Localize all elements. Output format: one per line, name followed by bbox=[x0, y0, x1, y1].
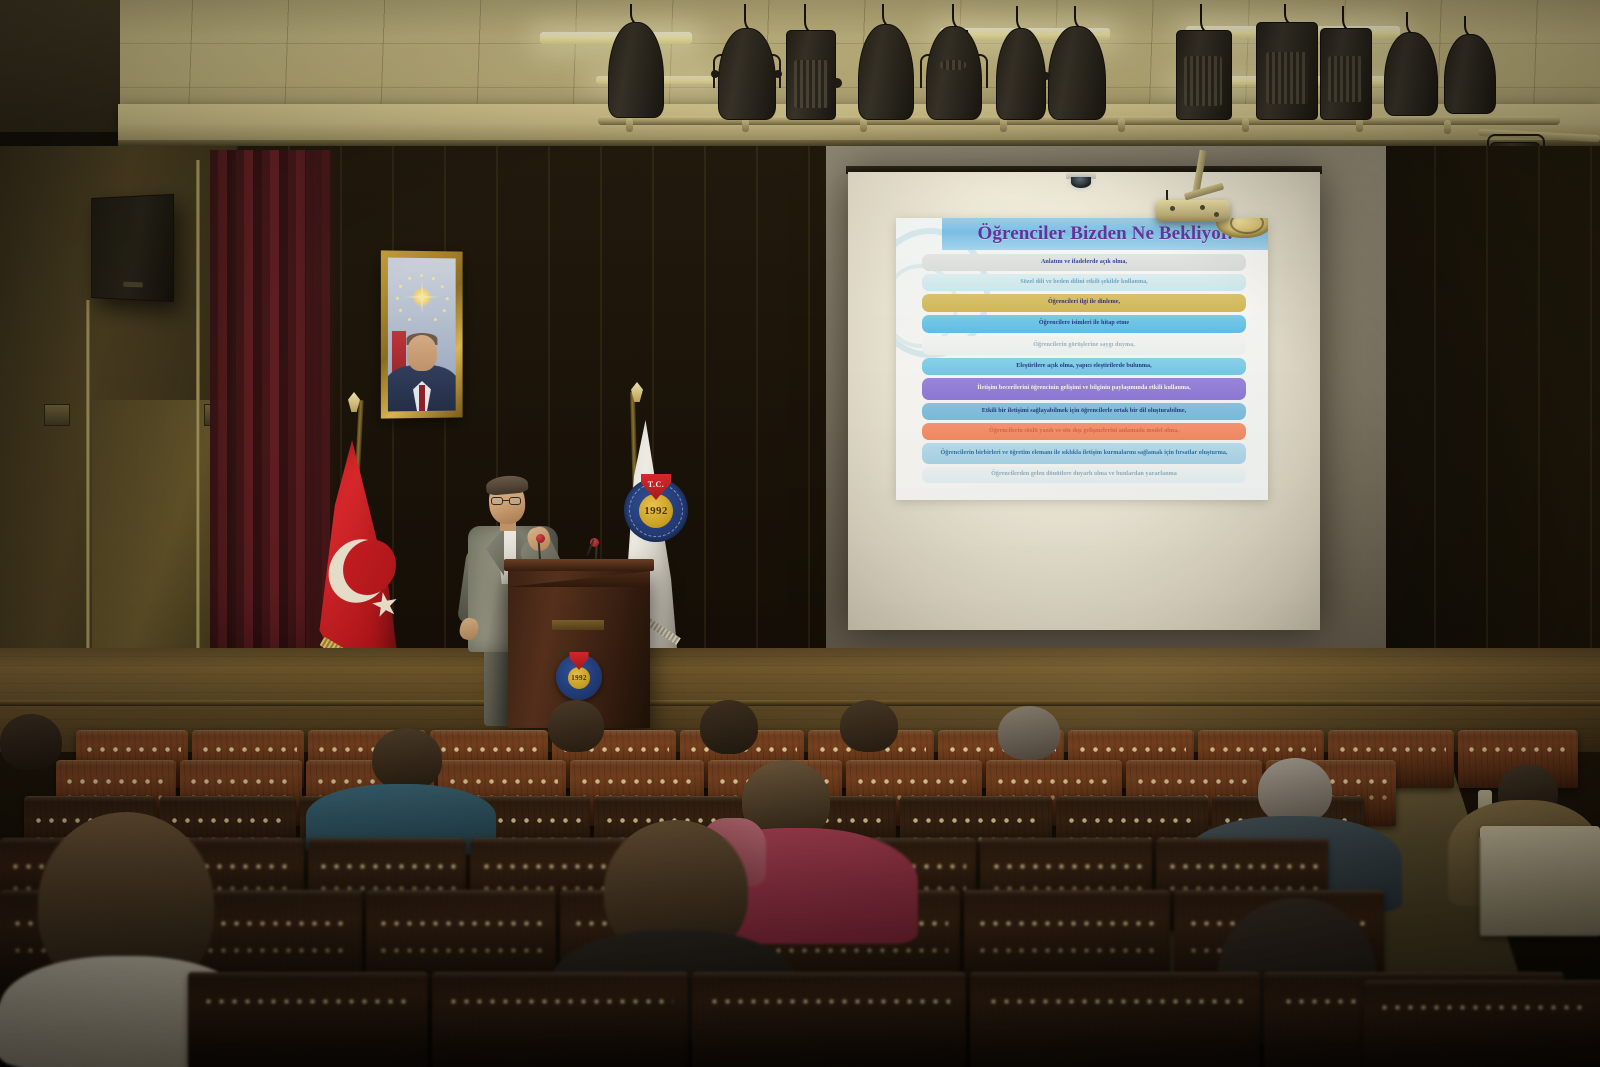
podium-slant-top bbox=[508, 571, 650, 587]
wall-outlet-box[interactable] bbox=[44, 404, 70, 426]
slide-title: Öğrenciler Bizden Ne Bekliyor. bbox=[978, 223, 1233, 245]
fixture-body bbox=[718, 28, 776, 120]
fixture-lens bbox=[1266, 52, 1308, 104]
ceiling-projector bbox=[1148, 150, 1230, 222]
stage-edge-nosing bbox=[0, 700, 1600, 706]
dome-security-camera-icon bbox=[1066, 172, 1096, 186]
stage-light-fixture bbox=[926, 26, 982, 120]
wall-trim-strip bbox=[86, 300, 90, 706]
presidential-portrait-frame bbox=[381, 250, 463, 418]
portrait-face bbox=[407, 335, 437, 371]
seat[interactable] bbox=[1364, 980, 1600, 1067]
slide-bullet: Öğrencilerin sözlü yazılı ve söz dışı ge… bbox=[922, 423, 1246, 440]
auditorium-photo-scene: Öğrenciler Bizden Ne Bekliyor. Anlatım v… bbox=[0, 0, 1600, 1067]
fixture-knob bbox=[832, 78, 842, 88]
presentation-slide: Öğrenciler Bizden Ne Bekliyor. Anlatım v… bbox=[896, 218, 1268, 500]
presidential-sun-icon bbox=[413, 288, 431, 306]
seat[interactable] bbox=[692, 972, 966, 1067]
truss-clamp bbox=[742, 118, 749, 132]
ceiling-dark-edge-left bbox=[0, 0, 120, 132]
seat-row bbox=[188, 972, 1568, 1067]
stage-light-fixture bbox=[1384, 32, 1438, 116]
eyeglasses-icon bbox=[491, 497, 523, 505]
fixture-knob bbox=[774, 70, 782, 78]
truss-clamp bbox=[1356, 118, 1363, 132]
slide-bullet: Sözel dili ve beden dilini etkili şekild… bbox=[922, 274, 1246, 291]
projector-knob bbox=[1170, 206, 1175, 211]
stage-light-fixture bbox=[1320, 28, 1372, 120]
truss-clamp bbox=[1000, 118, 1007, 132]
audience-head bbox=[700, 700, 758, 754]
microphone-head bbox=[536, 534, 545, 543]
fixture-lens bbox=[1184, 56, 1222, 106]
projection-screen: Öğrenciler Bizden Ne Bekliyor. Anlatım v… bbox=[848, 172, 1320, 630]
university-emblem: 1992 T.C. bbox=[624, 478, 688, 542]
truss-clamp bbox=[626, 118, 633, 132]
slide-bullet: Etkili bir iletişimi sağlayabilmek için … bbox=[922, 403, 1246, 420]
slide-bullet: Eleştirilere açık olma, yapıcı eleştiril… bbox=[922, 358, 1246, 375]
slide-bullet: İletişim becerilerini öğrencinin gelişim… bbox=[922, 378, 1246, 400]
stage-light-fixture bbox=[1048, 26, 1106, 120]
truss-clamp bbox=[1444, 120, 1451, 134]
seat[interactable] bbox=[188, 972, 428, 1067]
emblem-tc-label: T.C. bbox=[648, 480, 665, 489]
audience-head bbox=[998, 706, 1060, 760]
podium-plaque bbox=[552, 620, 604, 630]
slide-bullet: Öğrencileri ilgi ile dinleme, bbox=[922, 294, 1246, 312]
truss-clamp bbox=[860, 118, 867, 132]
slide-bullet: Öğrencilerin birbirleri ve öğretim elema… bbox=[922, 443, 1246, 464]
audience-head bbox=[0, 714, 62, 770]
projector-knob bbox=[1200, 205, 1205, 210]
seat[interactable] bbox=[1480, 826, 1600, 936]
fixture-knob bbox=[711, 70, 719, 78]
seat[interactable] bbox=[970, 972, 1260, 1067]
fixture-lens bbox=[794, 60, 828, 108]
wall-loudspeaker bbox=[91, 194, 174, 302]
fixture-lens bbox=[1328, 56, 1362, 102]
projector-knob bbox=[1214, 212, 1219, 217]
truss-clamp bbox=[1118, 118, 1125, 132]
stage-light-fixture bbox=[1176, 30, 1232, 120]
stage-light-fixture bbox=[1444, 34, 1496, 114]
slide-bullet: Öğrencilerden gelen dönütlere duyarlı ol… bbox=[922, 467, 1246, 483]
slide-bullet: Öğrencilere isimleri ile hitap etme bbox=[922, 315, 1246, 333]
stage-light-fixture bbox=[1256, 22, 1318, 120]
audience-head bbox=[840, 700, 898, 752]
fixture-body bbox=[858, 24, 914, 120]
fixture-knob bbox=[1042, 72, 1050, 80]
fixture-lens bbox=[940, 60, 966, 70]
fixture-body bbox=[1384, 32, 1438, 116]
camera-dome-lens bbox=[1071, 177, 1091, 188]
emblem-year: 1992 bbox=[644, 505, 668, 517]
slide-bullet: Öğrencilerin görüşlerine saygı duyma, bbox=[922, 336, 1246, 355]
stage-light-fixture bbox=[608, 22, 664, 118]
emblem-chevron-icon bbox=[570, 652, 589, 670]
audience-head bbox=[548, 700, 604, 752]
stage-light-fixture bbox=[786, 30, 836, 120]
presidential-portrait-image bbox=[388, 258, 456, 412]
slide-bullet-list: Anlatım ve ifadelerde açık olma,Sözel di… bbox=[922, 254, 1246, 486]
fixture-body bbox=[926, 26, 982, 120]
podium-desktop bbox=[504, 559, 654, 571]
podium-emblem: 1992 bbox=[556, 654, 602, 700]
audience-head bbox=[372, 728, 442, 790]
truss-clamp bbox=[1242, 118, 1249, 132]
emblem-year: 1992 bbox=[571, 674, 587, 682]
fixture-body bbox=[608, 22, 664, 118]
fixture-body bbox=[996, 28, 1046, 120]
projector-body bbox=[1156, 200, 1230, 222]
fixture-body bbox=[1048, 26, 1106, 120]
wall-trim-strip bbox=[196, 160, 200, 706]
stage-light-fixture bbox=[858, 24, 914, 120]
stage-light-fixture bbox=[996, 28, 1046, 120]
seat-row bbox=[1364, 980, 1600, 1067]
portrait-tie bbox=[419, 385, 425, 411]
slide-bullet: Anlatım ve ifadelerde açık olma, bbox=[922, 254, 1246, 271]
seat[interactable] bbox=[432, 972, 688, 1067]
stage-light-fixture bbox=[718, 28, 776, 120]
fixture-body bbox=[1444, 34, 1496, 114]
audience-head bbox=[1258, 758, 1332, 824]
loudspeaker-badge bbox=[123, 282, 142, 288]
